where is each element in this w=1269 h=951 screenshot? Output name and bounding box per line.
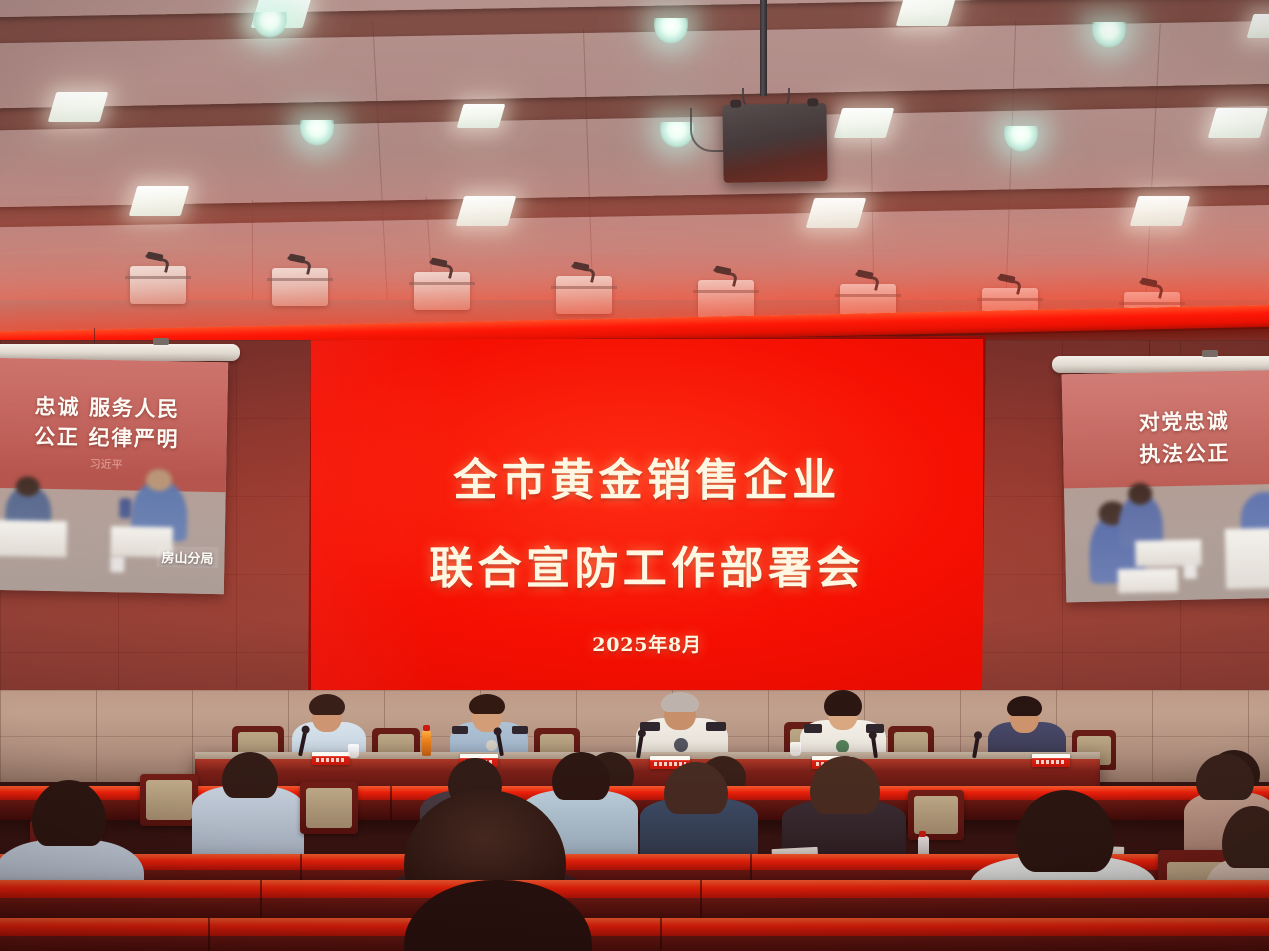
- screen-roller-knob: [153, 338, 169, 345]
- bottle-cap: [423, 725, 430, 731]
- audience-chair: [908, 790, 964, 840]
- desk-seam: [660, 918, 662, 951]
- uniform-epaulette: [452, 726, 468, 734]
- ceiling: [0, 0, 1269, 330]
- projector-mount-pole: [760, 0, 767, 96]
- uniform-epaulette: [512, 726, 528, 734]
- desk-red-reflection: [0, 918, 1269, 936]
- right-screen-document-stack: [1118, 568, 1178, 593]
- chair-pad: [306, 788, 352, 828]
- desk-seam: [208, 918, 210, 951]
- official-hair: [309, 694, 345, 715]
- left-screen-line1: 忠诚 服务人民: [0, 390, 228, 425]
- name-placard: [312, 752, 350, 765]
- led-video-wall: 全市黄金销售企业 联合宣防工作部署会 2025年8月: [308, 336, 986, 698]
- uniform-badge: [674, 738, 688, 752]
- right-screen-document-stack: [1225, 528, 1269, 589]
- uniform-badge: [486, 740, 497, 751]
- official-hair: [661, 692, 699, 712]
- right-screen-line1: 对党忠诚: [1138, 404, 1269, 437]
- placard-text: [316, 758, 346, 762]
- official-hair: [469, 694, 505, 714]
- water-bottle: [422, 730, 431, 756]
- stage-spotlight: [556, 276, 612, 314]
- left-projection-screen: 忠诚 服务人民 公正 纪律严明 习近平 房山分局: [0, 358, 228, 595]
- desk-seam: [390, 786, 392, 820]
- left-screen-document-stack: [0, 520, 67, 557]
- right-screen-line2: 执法公正: [1139, 436, 1269, 469]
- screen-roller-knob: [1202, 350, 1218, 357]
- screen-roller-wire: [94, 328, 95, 344]
- uniform-epaulette: [804, 724, 822, 733]
- left-screen-bottle: [119, 498, 131, 518]
- official-hair: [824, 690, 862, 716]
- audience-chair: [300, 782, 358, 834]
- drinking-cup: [790, 742, 801, 756]
- stage-spotlight: [414, 272, 470, 310]
- chair-pad: [914, 796, 959, 834]
- screen-roller-wire: [1149, 340, 1150, 356]
- left-screen-line2: 公正 纪律严明: [0, 420, 227, 455]
- conference-hall-photo: 忠诚 服务人民 公正 纪律严明 习近平 房山分局 对党忠诚 执法公正: [0, 0, 1269, 951]
- led-wall-bezel: [308, 336, 986, 698]
- placard-text: [1036, 760, 1066, 764]
- official-hair: [1007, 696, 1042, 716]
- right-screen-cup: [1184, 564, 1197, 579]
- drinking-cup: [348, 744, 359, 758]
- left-screen-cup: [110, 556, 124, 572]
- desk-front-panel: [0, 937, 1269, 951]
- stage-spotlight: [130, 266, 186, 304]
- audience-desk-row-4: [0, 918, 1269, 951]
- name-placard: [1032, 754, 1070, 767]
- right-projection-screen: 对党忠诚 执法公正: [1062, 370, 1269, 603]
- desk-red-reflection: [0, 880, 1269, 898]
- projector-foot: [730, 100, 741, 108]
- stage-spotlight: [698, 280, 754, 318]
- audience-chair: [140, 774, 198, 826]
- chair-pad: [146, 780, 192, 820]
- projector-foot: [807, 98, 818, 106]
- stage-spotlight: [272, 268, 328, 306]
- left-screen-watermark: 房山分局: [156, 546, 218, 568]
- uniform-epaulette: [706, 722, 726, 731]
- bottle-cap: [919, 831, 926, 837]
- ceiling-projector: [722, 103, 827, 183]
